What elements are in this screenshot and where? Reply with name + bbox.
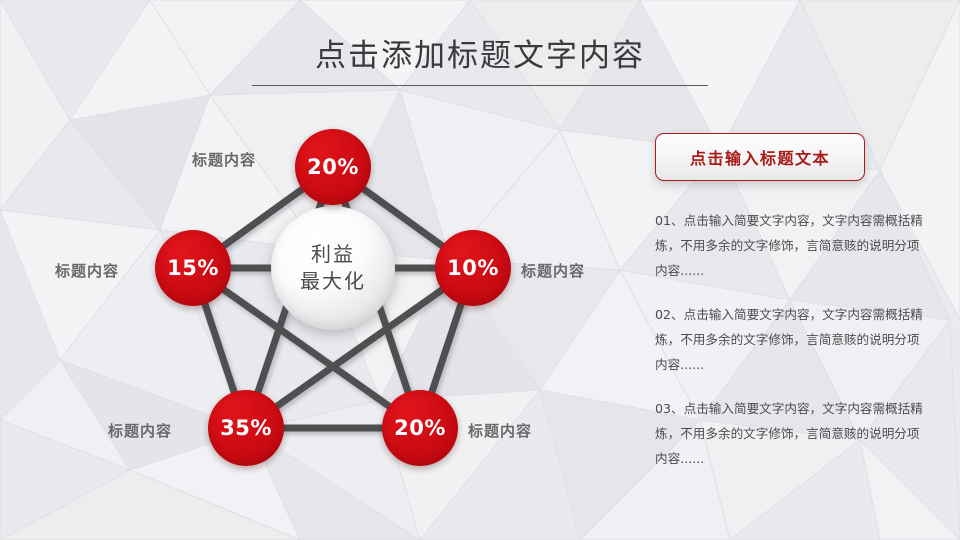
star-node-bottom-right-value: 20% [394, 416, 446, 440]
star-node-left-value: 15% [167, 256, 219, 280]
star-node-left[interactable]: 15% [155, 230, 231, 306]
star-node-right-value: 10% [447, 256, 499, 280]
center-node-line2: 最大化 [300, 268, 366, 295]
center-node: 利益 最大化 [271, 206, 395, 330]
star-node-right-label: 标题内容 [521, 260, 585, 281]
bullet-paragraph-list: 01、点击输入简要文字内容，文字内容需概括精炼，不用多余的文字修饰，言简意赅的说… [655, 208, 923, 490]
title-divider [252, 85, 708, 86]
star-node-top[interactable]: 20% [295, 129, 371, 205]
star-node-bottom-left[interactable]: 35% [208, 390, 284, 466]
star-node-right[interactable]: 10% [435, 230, 511, 306]
star-node-bottom-left-label: 标题内容 [108, 420, 172, 441]
bullet-paragraph-1: 01、点击输入简要文字内容，文字内容需概括精炼，不用多余的文字修饰，言简意赅的说… [655, 208, 923, 283]
star-node-bottom-left-value: 35% [220, 416, 272, 440]
bullet-paragraph-3: 03、点击输入简要文字内容，文字内容需概括精炼，不用多余的文字修饰，言简意赅的说… [655, 396, 923, 471]
center-node-line1: 利益 [311, 241, 355, 268]
star-node-top-value: 20% [307, 155, 359, 179]
section-banner[interactable]: 点击输入标题文本 [655, 133, 865, 181]
section-banner-text: 点击输入标题文本 [690, 145, 830, 169]
star-node-left-label: 标题内容 [55, 260, 119, 281]
star-node-bottom-right[interactable]: 20% [382, 390, 458, 466]
bullet-paragraph-2: 02、点击输入简要文字内容，文字内容需概括精炼，不用多余的文字修饰，言简意赅的说… [655, 302, 923, 377]
page-title-text: 点击添加标题文字内容 [309, 30, 651, 85]
star-node-bottom-right-label: 标题内容 [468, 420, 532, 441]
page-title: 点击添加标题文字内容 [0, 30, 960, 85]
star-node-top-label: 标题内容 [192, 149, 256, 170]
pentagram-diagram: 利益 最大化 20% 标题内容 10% 标题内容 20% 标题内容 35% 标题… [60, 105, 620, 485]
